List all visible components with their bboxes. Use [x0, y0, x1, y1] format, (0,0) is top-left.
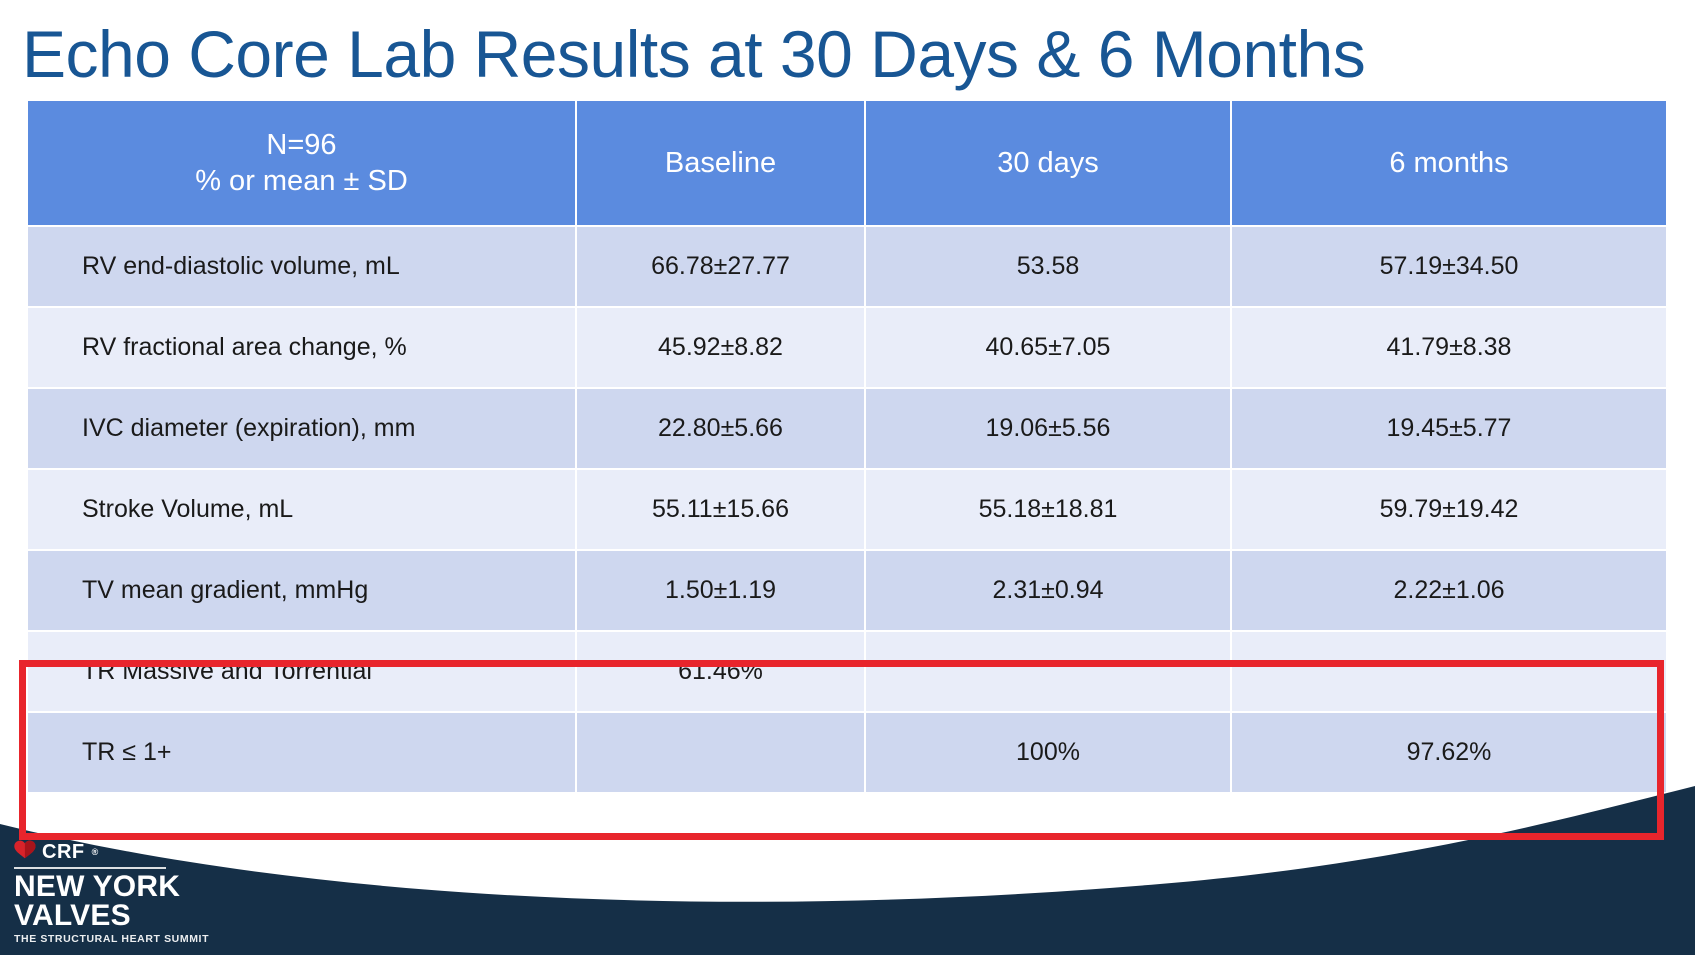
- row-label: RV fractional area change, %: [28, 308, 575, 387]
- column-header-population: N=96 % or mean ± SD: [28, 101, 575, 225]
- population-count: N=96: [34, 127, 569, 163]
- cell-baseline: 55.11±15.66: [577, 470, 864, 549]
- column-header-6-months: 6 months: [1232, 101, 1666, 225]
- cell-30-days: 40.65±7.05: [866, 308, 1230, 387]
- table-row: IVC diameter (expiration), mm 22.80±5.66…: [28, 389, 1666, 468]
- column-header-baseline: Baseline: [577, 101, 864, 225]
- cell-30-days: 2.31±0.94: [866, 551, 1230, 630]
- table-row: RV end-diastolic volume, mL 66.78±27.77 …: [28, 227, 1666, 306]
- row-label: Stroke Volume, mL: [28, 470, 575, 549]
- crf-wordmark: CRF: [42, 842, 85, 862]
- table-row: Stroke Volume, mL 55.11±15.66 55.18±18.8…: [28, 470, 1666, 549]
- new-york-valves-logo: CRF ® NEW YORK VALVES THE STRUCTURAL HEA…: [14, 841, 434, 945]
- cell-6-months: 41.79±8.38: [1232, 308, 1666, 387]
- table-header-row: N=96 % or mean ± SD Baseline 30 days 6 m…: [28, 101, 1666, 225]
- table-header: N=96 % or mean ± SD Baseline 30 days 6 m…: [28, 101, 1666, 225]
- cell-6-months: 2.22±1.06: [1232, 551, 1666, 630]
- logo-line-new-york: NEW YORK: [14, 872, 434, 901]
- crf-heart-icon: [14, 840, 36, 864]
- logo-tagline: THE STRUCTURAL HEART SUMMIT: [14, 933, 434, 945]
- page-title: Echo Core Lab Results at 30 Days & 6 Mon…: [22, 16, 1682, 94]
- echo-results-table: N=96 % or mean ± SD Baseline 30 days 6 m…: [26, 99, 1668, 794]
- row-label: TV mean gradient, mmHg: [28, 551, 575, 630]
- table-row: RV fractional area change, % 45.92±8.82 …: [28, 308, 1666, 387]
- crf-lockup: CRF ®: [14, 841, 434, 863]
- cell-30-days: 55.18±18.81: [866, 470, 1230, 549]
- cell-baseline: 66.78±27.77: [577, 227, 864, 306]
- table-row-highlighted: TR Massive and Torrential 61.46%: [28, 632, 1666, 711]
- cell-30-days: [866, 632, 1230, 711]
- table-body: RV end-diastolic volume, mL 66.78±27.77 …: [28, 227, 1666, 792]
- row-label: RV end-diastolic volume, mL: [28, 227, 575, 306]
- row-label: TR Massive and Torrential: [28, 632, 575, 711]
- cell-6-months: 59.79±19.42: [1232, 470, 1666, 549]
- cell-30-days: 53.58: [866, 227, 1230, 306]
- population-units: % or mean ± SD: [34, 163, 569, 199]
- logo-line-valves: VALVES: [14, 901, 434, 930]
- cell-baseline: 22.80±5.66: [577, 389, 864, 468]
- cell-baseline: 1.50±1.19: [577, 551, 864, 630]
- cell-30-days: 19.06±5.56: [866, 389, 1230, 468]
- column-header-30-days: 30 days: [866, 101, 1230, 225]
- cell-6-months: 57.19±34.50: [1232, 227, 1666, 306]
- cell-baseline: 45.92±8.82: [577, 308, 864, 387]
- table-row: TV mean gradient, mmHg 1.50±1.19 2.31±0.…: [28, 551, 1666, 630]
- logo-divider: [14, 867, 166, 869]
- registered-mark: ®: [92, 847, 99, 857]
- cell-baseline: 61.46%: [577, 632, 864, 711]
- cell-6-months: [1232, 632, 1666, 711]
- cell-6-months: 19.45±5.77: [1232, 389, 1666, 468]
- row-label: IVC diameter (expiration), mm: [28, 389, 575, 468]
